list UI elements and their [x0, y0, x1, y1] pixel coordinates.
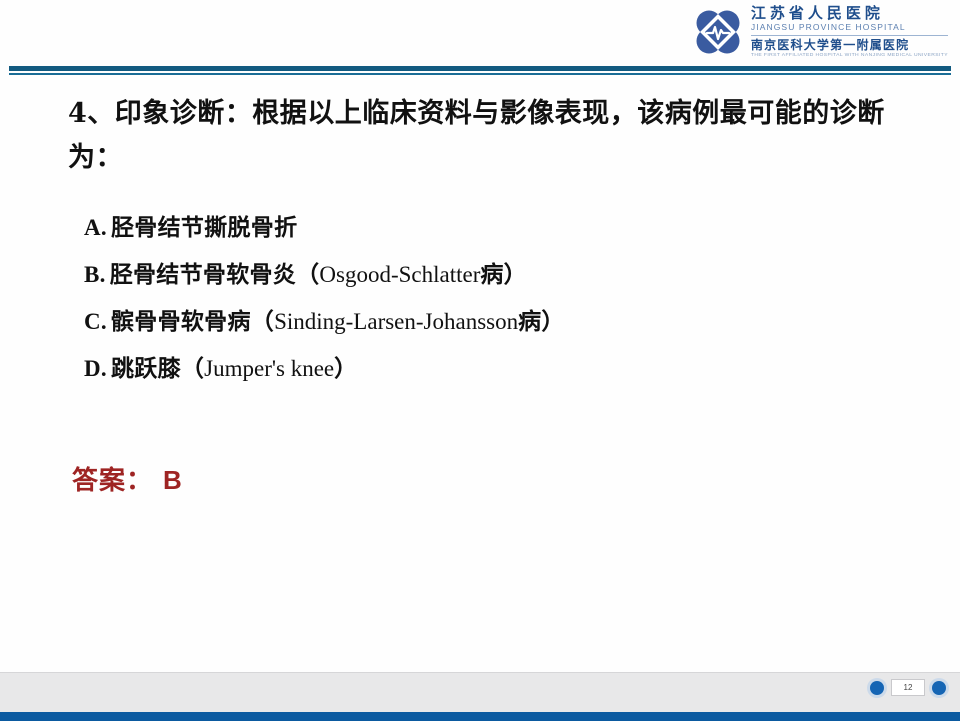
option-b-tail: 病）	[480, 261, 527, 288]
slide-header: 江苏省人民医院 JIANGSU PROVINCE HOSPITAL 南京医科大学…	[0, 0, 960, 78]
option-c-tail: 病）	[518, 308, 565, 335]
next-page-button[interactable]	[932, 681, 946, 695]
option-d-letter: D.	[84, 356, 107, 381]
hospital-logo: 江苏省人民医院 JIANGSU PROVINCE HOSPITAL 南京医科大学…	[692, 6, 948, 58]
option-b: B.胫骨结节骨软骨炎（Osgood-Schlatter病）	[84, 252, 960, 299]
header-rule-thick	[9, 66, 951, 71]
question-text: 4、印象诊断：根据以上临床资料与影像表现，该病例最可能的诊断为：	[68, 92, 904, 179]
option-d-tail: ）	[334, 355, 357, 382]
option-a-letter: A.	[84, 215, 107, 240]
answer-line: 答案：B	[72, 460, 960, 497]
page-number-box[interactable]: 12	[891, 679, 925, 696]
hospital-affiliate-en: THE FIRST AFFILIATED HOSPITAL WITH NANJI…	[751, 53, 948, 58]
logo-divider	[751, 35, 948, 36]
option-a-text: 胫骨结节撕脱骨折	[111, 214, 297, 241]
slide-footer: 12	[0, 672, 960, 721]
header-rule-thin	[9, 73, 951, 75]
option-c-text: 髌骨骨软骨病（	[111, 308, 274, 335]
hospital-logo-text: 江苏省人民医院 JIANGSU PROVINCE HOSPITAL 南京医科大学…	[751, 6, 948, 58]
option-c-letter: C.	[84, 309, 107, 334]
answer-label: 答案：	[72, 466, 153, 496]
option-c: C.髌骨骨软骨病（Sinding-Larsen-Johansson病）	[84, 299, 960, 346]
hospital-name-cn: 江苏省人民医院	[751, 6, 948, 21]
option-b-text: 胫骨结节骨软骨炎（	[110, 261, 320, 288]
option-a: A.胫骨结节撕脱骨折	[84, 205, 960, 252]
options-list: A.胫骨结节撕脱骨折 B.胫骨结节骨软骨炎（Osgood-Schlatter病）…	[0, 205, 960, 392]
previous-page-button[interactable]	[870, 681, 884, 695]
hospital-affiliate-cn: 南京医科大学第一附属医院	[751, 39, 948, 51]
answer-value: B	[163, 465, 183, 495]
option-d-latin: Jumper's knee	[204, 356, 334, 381]
slide-canvas: 江苏省人民医院 JIANGSU PROVINCE HOSPITAL 南京医科大学…	[0, 0, 960, 672]
option-b-letter: B.	[84, 262, 106, 287]
option-d-text: 跳跃膝（	[111, 355, 204, 382]
hospital-clover-pulse-emblem	[692, 6, 744, 58]
hospital-name-en: JIANGSU PROVINCE HOSPITAL	[751, 23, 948, 32]
page-navigation: 12	[870, 679, 946, 696]
slide-content: 4、印象诊断：根据以上临床资料与影像表现，该病例最可能的诊断为： A.胫骨结节撕…	[0, 92, 960, 497]
option-d: D.跳跃膝（Jumper's knee）	[84, 346, 960, 393]
option-c-latin: Sinding-Larsen-Johansson	[274, 309, 518, 334]
option-b-latin: Osgood-Schlatter	[319, 262, 480, 287]
